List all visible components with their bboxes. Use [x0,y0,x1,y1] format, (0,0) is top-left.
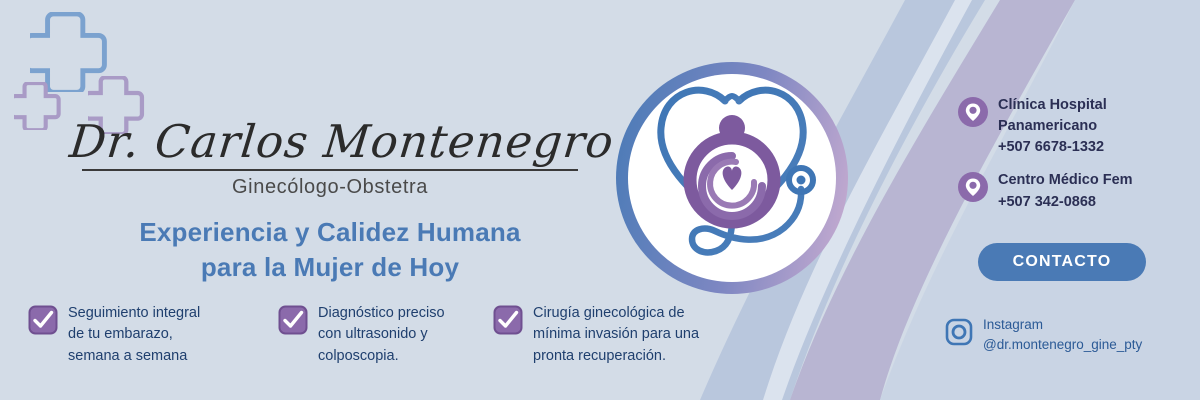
tagline-line-2: para la Mujer de Hoy [60,250,600,285]
contacto-button[interactable]: CONTACTO [978,243,1146,281]
instagram-icon [944,317,974,352]
contact-details: Clínica Hospital Panamericano +507 6678-… [998,95,1107,158]
checkbox-checked-icon [28,305,58,340]
feature-line: con ultrasonido y [318,324,445,345]
contact-item[interactable]: Clínica Hospital Panamericano +507 6678-… [958,95,1133,158]
feature-list: Seguimiento integral de tu embarazo, sem… [28,303,743,367]
feature-line: Cirugía ginecológica de [533,303,699,324]
instagram-link[interactable]: Instagram @dr.montenegro_gine_pty [944,315,1142,354]
contact-list: Clínica Hospital Panamericano +507 6678-… [958,95,1133,225]
feature-line: semana a semana [68,346,200,367]
instagram-platform: Instagram [983,315,1142,335]
clinic-phone[interactable]: +507 342-0868 [998,192,1133,213]
checkbox-checked-icon [493,305,523,340]
name-underline-rule [82,169,578,171]
doctor-name: Dr. Carlos Montenegro [68,118,593,165]
medical-cross-small-icon [14,82,62,130]
feature-line: mínima invasión para una [533,324,699,345]
feature-text: Diagnóstico preciso con ultrasonido y co… [318,303,445,367]
feature-line: colposcopia. [318,346,445,367]
location-pin-icon [958,172,988,207]
feature-text: Seguimiento integral de tu embarazo, sem… [68,303,200,367]
clinic-name-line: Panamericano [998,116,1107,137]
feature-line: pronta recuperación. [533,346,699,367]
clinic-promo-banner: Dr. Carlos Montenegro Ginecólogo-Obstetr… [0,0,1200,400]
checkbox-checked-icon [278,305,308,340]
instagram-handle[interactable]: @dr.montenegro_gine_pty [983,335,1142,355]
feature-line: Diagnóstico preciso [318,303,445,324]
feature-item: Diagnóstico preciso con ultrasonido y co… [278,303,493,367]
contact-item[interactable]: Centro Médico Fem +507 342-0868 [958,170,1133,212]
tagline-line-1: Experiencia y Calidez Humana [60,215,600,250]
clinic-phone[interactable]: +507 6678-1332 [998,137,1107,158]
location-pin-icon [958,97,988,132]
doctor-specialty: Ginecólogo-Obstetra [70,176,590,199]
clinic-name-line: Centro Médico Fem [998,170,1133,191]
feature-text: Cirugía ginecológica de mínima invasión … [533,303,699,367]
stethoscope-heart-logo [612,58,852,298]
contact-details: Centro Médico Fem +507 342-0868 [998,170,1133,212]
tagline: Experiencia y Calidez Humana para la Muj… [60,215,600,285]
instagram-text: Instagram @dr.montenegro_gine_pty [983,315,1142,354]
feature-item: Cirugía ginecológica de mínima invasión … [493,303,743,367]
feature-line: de tu embarazo, [68,324,200,345]
feature-item: Seguimiento integral de tu embarazo, sem… [28,303,278,367]
clinic-name-line: Clínica Hospital [998,95,1107,116]
doctor-identity-block: Dr. Carlos Montenegro Ginecólogo-Obstetr… [70,118,590,199]
feature-line: Seguimiento integral [68,303,200,324]
